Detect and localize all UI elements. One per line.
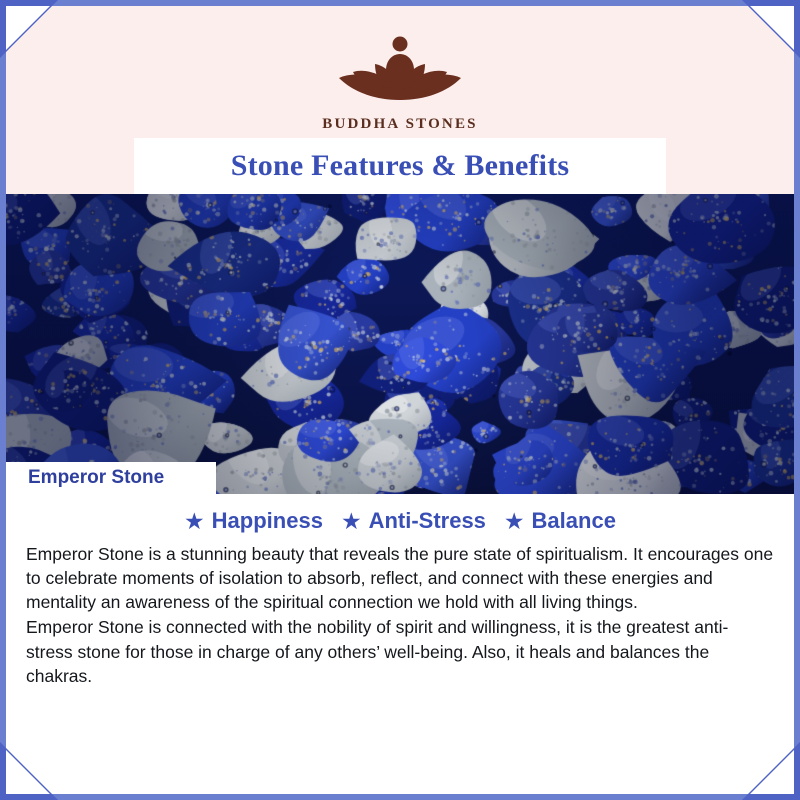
- benefit-item: ★ Balance: [504, 508, 616, 534]
- benefit-label: Happiness: [212, 508, 323, 534]
- brand-name: BUDDHA STONES: [322, 116, 477, 133]
- brand-header: BUDDHA STONES: [6, 6, 794, 138]
- lapis-stones-photo: [6, 194, 794, 494]
- body-area: ★ Happiness ★ Anti-Stress ★ Balance Empe…: [6, 494, 794, 794]
- star-icon: ★: [341, 510, 362, 533]
- hero-image: Emperor Stone: [6, 194, 794, 494]
- description-paragraph-2: Emperor Stone is connected with the nobi…: [26, 615, 774, 687]
- poster-root: BUDDHA STONES Stone Features & Benefits …: [0, 0, 800, 800]
- lotus-meditation-icon: [305, 28, 495, 110]
- star-icon: ★: [504, 510, 525, 533]
- title-plate: Stone Features & Benefits: [134, 138, 666, 194]
- benefit-item: ★ Happiness: [184, 508, 323, 534]
- benefit-item: ★ Anti-Stress: [341, 508, 486, 534]
- benefit-label: Anti-Stress: [369, 508, 486, 534]
- star-icon: ★: [184, 510, 205, 533]
- poster-content: BUDDHA STONES Stone Features & Benefits …: [6, 6, 794, 794]
- title-band: Stone Features & Benefits: [6, 138, 794, 194]
- hero-caption: Emperor Stone: [6, 462, 216, 494]
- benefits-row: ★ Happiness ★ Anti-Stress ★ Balance: [26, 508, 774, 534]
- benefit-label: Balance: [532, 508, 616, 534]
- page-title: Stone Features & Benefits: [231, 149, 570, 183]
- hero-caption-label: Emperor Stone: [28, 467, 164, 489]
- description-paragraph-1: Emperor Stone is a stunning beauty that …: [26, 542, 774, 614]
